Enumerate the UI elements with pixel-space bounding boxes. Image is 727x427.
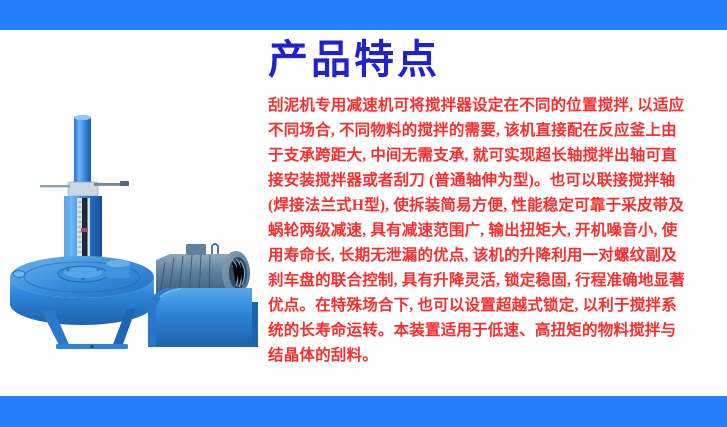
- drum-side-lug: [13, 271, 25, 278]
- handle-bar-left: [40, 185, 70, 187]
- motor-terminal-box: [186, 244, 206, 255]
- product-feature-banner: 产品特点 刮泥机专用减速机可将搅拌器设定在不同的位置搅拌, 以适应 不同场合, …: [0, 0, 727, 427]
- description-line: 结晶体的刮料。: [268, 343, 716, 368]
- drum-flange-inner: [64, 267, 102, 278]
- handle-collar: [68, 182, 98, 196]
- description-line: 优点。在特殊场合下, 也可以设置超越式锁定, 以利于搅拌系: [268, 293, 716, 318]
- belt-guard-group: [148, 288, 258, 347]
- bottom-blue-band: [0, 396, 727, 427]
- belt-guard-cover: [148, 288, 252, 347]
- base-foot-bolt: [90, 345, 94, 349]
- description-line: 接安装搅拌器或者刮刀 (普通轴伸为型)。也可以联接搅拌轴: [268, 168, 716, 193]
- drum-gearbox-stub-top: [106, 260, 130, 267]
- description-line: 统的长寿命运转。本装置适用于低速、高扭矩的物料搅拌与: [268, 318, 716, 343]
- page-title: 产品特点: [268, 30, 716, 86]
- description-line: 不同场合, 不同物料的搅拌的需要, 该机直接配在反应釜上由: [268, 118, 716, 143]
- top-blue-band: [0, 0, 727, 30]
- description-line: 蜗轮两级减速, 具有减速范围广, 输出扭矩大, 开机噪音小, 使: [268, 218, 716, 243]
- product-photo: [8, 58, 258, 352]
- belt-guard-right-face: [252, 302, 258, 347]
- mixing-shaft-group: [74, 115, 91, 188]
- description-line: 刮泥机专用减速机可将搅拌器设定在不同的位置搅拌, 以适应: [268, 93, 716, 118]
- text-content: 产品特点 刮泥机专用减速机可将搅拌器设定在不同的位置搅拌, 以适应 不同场合, …: [268, 30, 716, 396]
- description-line: 刹车盘的联合控制, 具有升降灵活, 锁定稳固, 行程准确地显著: [268, 268, 716, 293]
- shaft-top-cap: [74, 115, 91, 120]
- mixing-shaft: [74, 117, 91, 188]
- description-line: 于支承跨距大, 中间无需支承, 就可实现超长轴搅拌出轴可直: [268, 143, 716, 168]
- description-paragraph: 刮泥机专用减速机可将搅拌器设定在不同的位置搅拌, 以适应 不同场合, 不同物料的…: [268, 93, 716, 368]
- description-line: (焊接法兰式H型), 使拆装简易方便, 性能稳定可靠于采皮带及: [268, 193, 716, 218]
- handle-knob: [120, 181, 129, 186]
- gauge-indicator: [81, 228, 88, 232]
- description-line: 用寿命长, 长期无泄漏的优点, 该机的升降利用一对螺纹副及: [268, 243, 716, 268]
